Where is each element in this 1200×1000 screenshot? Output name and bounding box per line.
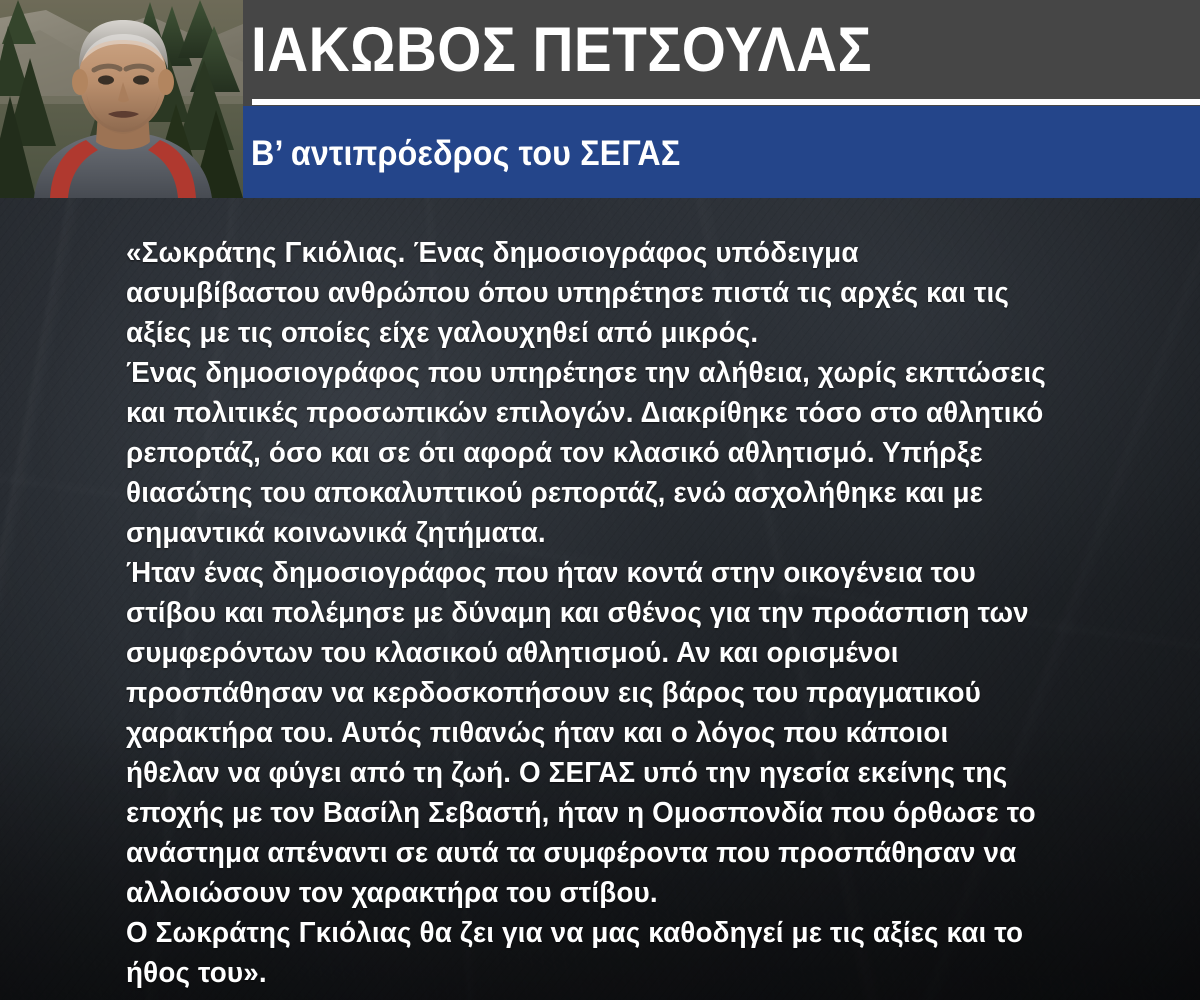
quote-paragraph: Ο Σωκράτης Γκιόλιας θα ζει για να μας κα…: [126, 913, 1048, 993]
quote-paragraph: «Σωκράτης Γκιόλιας. Ένας δημοσιογράφος υ…: [126, 233, 1048, 353]
quote-paragraph: Ένας δημοσιογράφος που υπηρέτησε την αλή…: [126, 353, 1048, 553]
header-divider-rule: [252, 99, 1200, 105]
portrait-photo: [0, 0, 243, 198]
page-subtitle: Β’ αντιπρόεδρος του ΣΕΓΑΣ: [251, 133, 680, 175]
quote-paragraph: Ήταν ένας δημοσιογράφος που ήταν κοντά σ…: [126, 553, 1048, 913]
page-title: ΙΑΚΩΒΟΣ ΠΕΤΣΟΥΛΑΣ: [251, 12, 1088, 88]
quote-body: «Σωκράτης Γκιόλιας. Ένας δημοσιογράφος υ…: [126, 233, 1086, 993]
portrait-photo-icon: [0, 0, 243, 198]
quote-card: ΙΑΚΩΒΟΣ ΠΕΤΣΟΥΛΑΣ Β’ αντιπρόεδρος του ΣΕ…: [0, 0, 1200, 1000]
header: ΙΑΚΩΒΟΣ ΠΕΤΣΟΥΛΑΣ Β’ αντιπρόεδρος του ΣΕ…: [0, 0, 1200, 198]
